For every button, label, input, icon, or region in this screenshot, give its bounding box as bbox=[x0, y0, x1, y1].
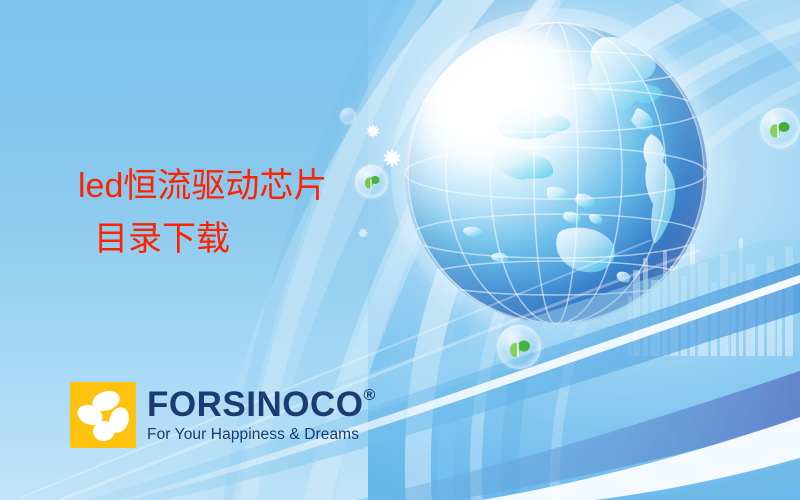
headline-line-2: 目录下载 bbox=[78, 213, 408, 266]
logo-wordmark: FORSINOCO® For Your Happiness & Dreams bbox=[147, 387, 376, 444]
registered-trademark-icon: ® bbox=[363, 388, 375, 404]
soap-bubble-icon bbox=[340, 108, 356, 124]
four-petal-flower-icon bbox=[70, 382, 136, 448]
logo-tagline: For Your Happiness & Dreams bbox=[147, 426, 376, 444]
logo-name: FORSINOCO® bbox=[147, 387, 376, 422]
diagonal-swoosh-bands bbox=[0, 240, 800, 500]
page-title: led恒流驱动芯片 目录下载 bbox=[78, 160, 408, 265]
soap-bubble-icon bbox=[760, 108, 800, 148]
soap-bubble-icon bbox=[497, 325, 541, 369]
logo-name-text: FORSINOCO bbox=[147, 387, 363, 422]
brand-logo: FORSINOCO® For Your Happiness & Dreams bbox=[70, 382, 376, 448]
banner-image: led恒流驱动芯片 目录下载 FORSINOCO® For Your Happi… bbox=[0, 0, 800, 500]
flower-asterisk-icon bbox=[364, 122, 382, 140]
headline-line-1: led恒流驱动芯片 bbox=[78, 160, 408, 213]
